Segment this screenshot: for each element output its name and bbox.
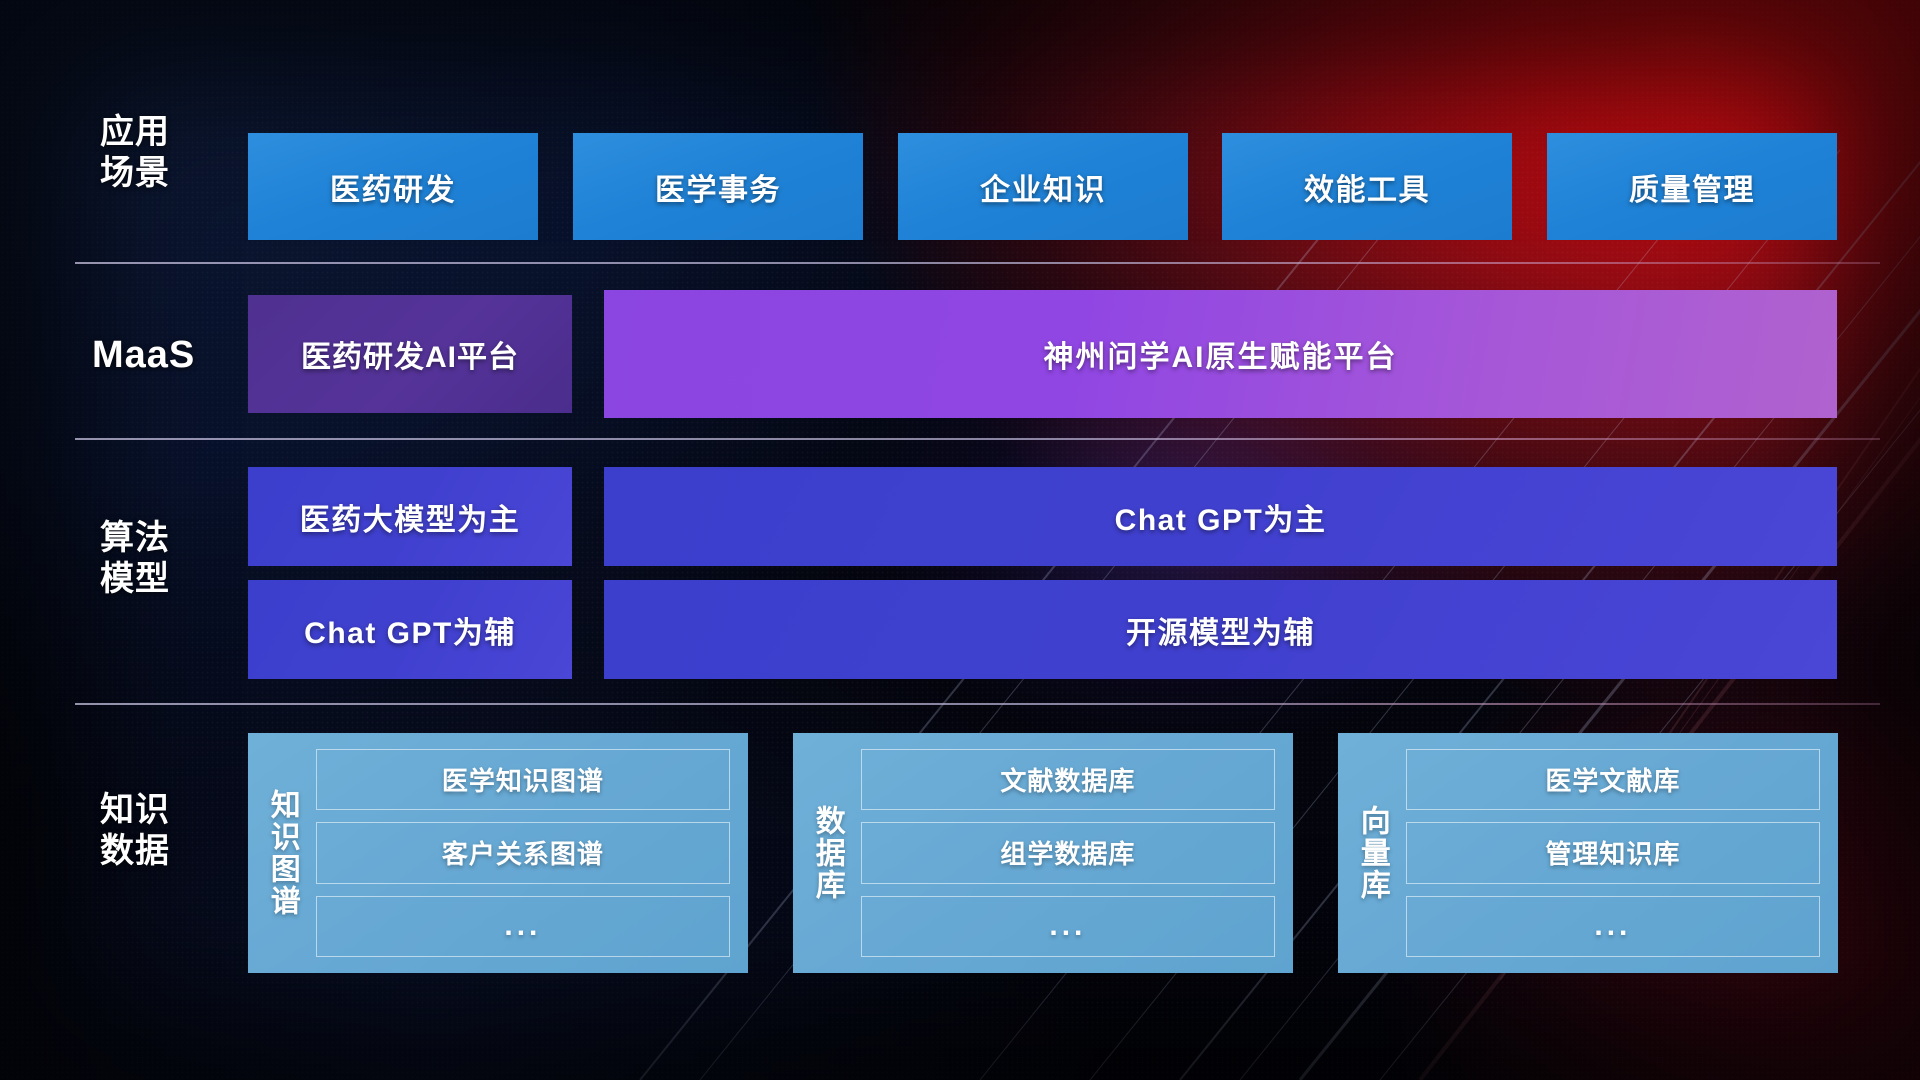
knowledge-item-more-database[interactable]: ...: [861, 896, 1275, 957]
algorithm-block-medicine-large-model-primary[interactable]: 医药大模型为主: [248, 467, 572, 566]
knowledge-item-management-knowledge-store[interactable]: 管理知识库: [1406, 822, 1820, 883]
maas-block-shenzhou-wenxue-platform[interactable]: 神州问学AI原生赋能平台: [604, 290, 1837, 418]
divider-maas-algorithm: [75, 438, 1880, 440]
algorithm-block-chatgpt-secondary[interactable]: Chat GPT为辅: [248, 580, 572, 679]
knowledge-panel-title-vector-store: 向量库: [1352, 749, 1392, 957]
row-label-knowledge-line2: 数据: [100, 831, 240, 872]
knowledge-panel-items-vector-store: 医学文献库 管理知识库 ...: [1406, 749, 1820, 957]
row-label-algorithm-line2: 模型: [100, 559, 240, 600]
scenario-block-medical-affairs[interactable]: 医学事务: [573, 133, 863, 240]
knowledge-panel-items-knowledge-graph: 医学知识图谱 客户关系图谱 ...: [316, 749, 730, 957]
row-label-knowledge-line1: 知识: [100, 790, 240, 831]
row-label-algorithm-line1: 算法: [100, 518, 240, 559]
knowledge-item-more-graph[interactable]: ...: [316, 896, 730, 957]
scenario-block-enterprise-knowledge[interactable]: 企业知识: [898, 133, 1188, 240]
knowledge-item-medical-literature-store[interactable]: 医学文献库: [1406, 749, 1820, 810]
knowledge-item-omics-database[interactable]: 组学数据库: [861, 822, 1275, 883]
knowledge-item-medical-knowledge-graph[interactable]: 医学知识图谱: [316, 749, 730, 810]
knowledge-panel-items-database: 文献数据库 组学数据库 ...: [861, 749, 1275, 957]
knowledge-item-literature-database[interactable]: 文献数据库: [861, 749, 1275, 810]
knowledge-panel-title-knowledge-graph: 知识图谱: [262, 749, 302, 957]
knowledge-panel-database[interactable]: 数据库 文献数据库 组学数据库 ...: [793, 733, 1293, 973]
algorithm-block-open-source-secondary[interactable]: 开源模型为辅: [604, 580, 1837, 679]
maas-block-medicine-ai-platform[interactable]: 医药研发AI平台: [248, 295, 572, 413]
scenario-block-efficiency-tools[interactable]: 效能工具: [1222, 133, 1512, 240]
algorithm-block-chatgpt-primary[interactable]: Chat GPT为主: [604, 467, 1837, 566]
row-label-maas: MaaS: [92, 333, 262, 379]
row-label-knowledge: 知识 数据: [100, 790, 240, 872]
scenario-block-medicine-rd[interactable]: 医药研发: [248, 133, 538, 240]
knowledge-item-customer-relationship-graph[interactable]: 客户关系图谱: [316, 822, 730, 883]
divider-scenario-maas: [75, 262, 1880, 264]
row-label-scenario-line2: 场景: [100, 153, 240, 194]
row-label-scenario: 应用 场景: [100, 112, 240, 194]
divider-algorithm-knowledge: [75, 703, 1880, 705]
knowledge-panel-knowledge-graph[interactable]: 知识图谱 医学知识图谱 客户关系图谱 ...: [248, 733, 748, 973]
scenario-block-quality-management[interactable]: 质量管理: [1547, 133, 1837, 240]
knowledge-panel-vector-store[interactable]: 向量库 医学文献库 管理知识库 ...: [1338, 733, 1838, 973]
knowledge-panel-title-database: 数据库: [807, 749, 847, 957]
row-label-scenario-line1: 应用: [100, 112, 240, 153]
row-label-algorithm: 算法 模型: [100, 518, 240, 600]
knowledge-item-more-vector[interactable]: ...: [1406, 896, 1820, 957]
